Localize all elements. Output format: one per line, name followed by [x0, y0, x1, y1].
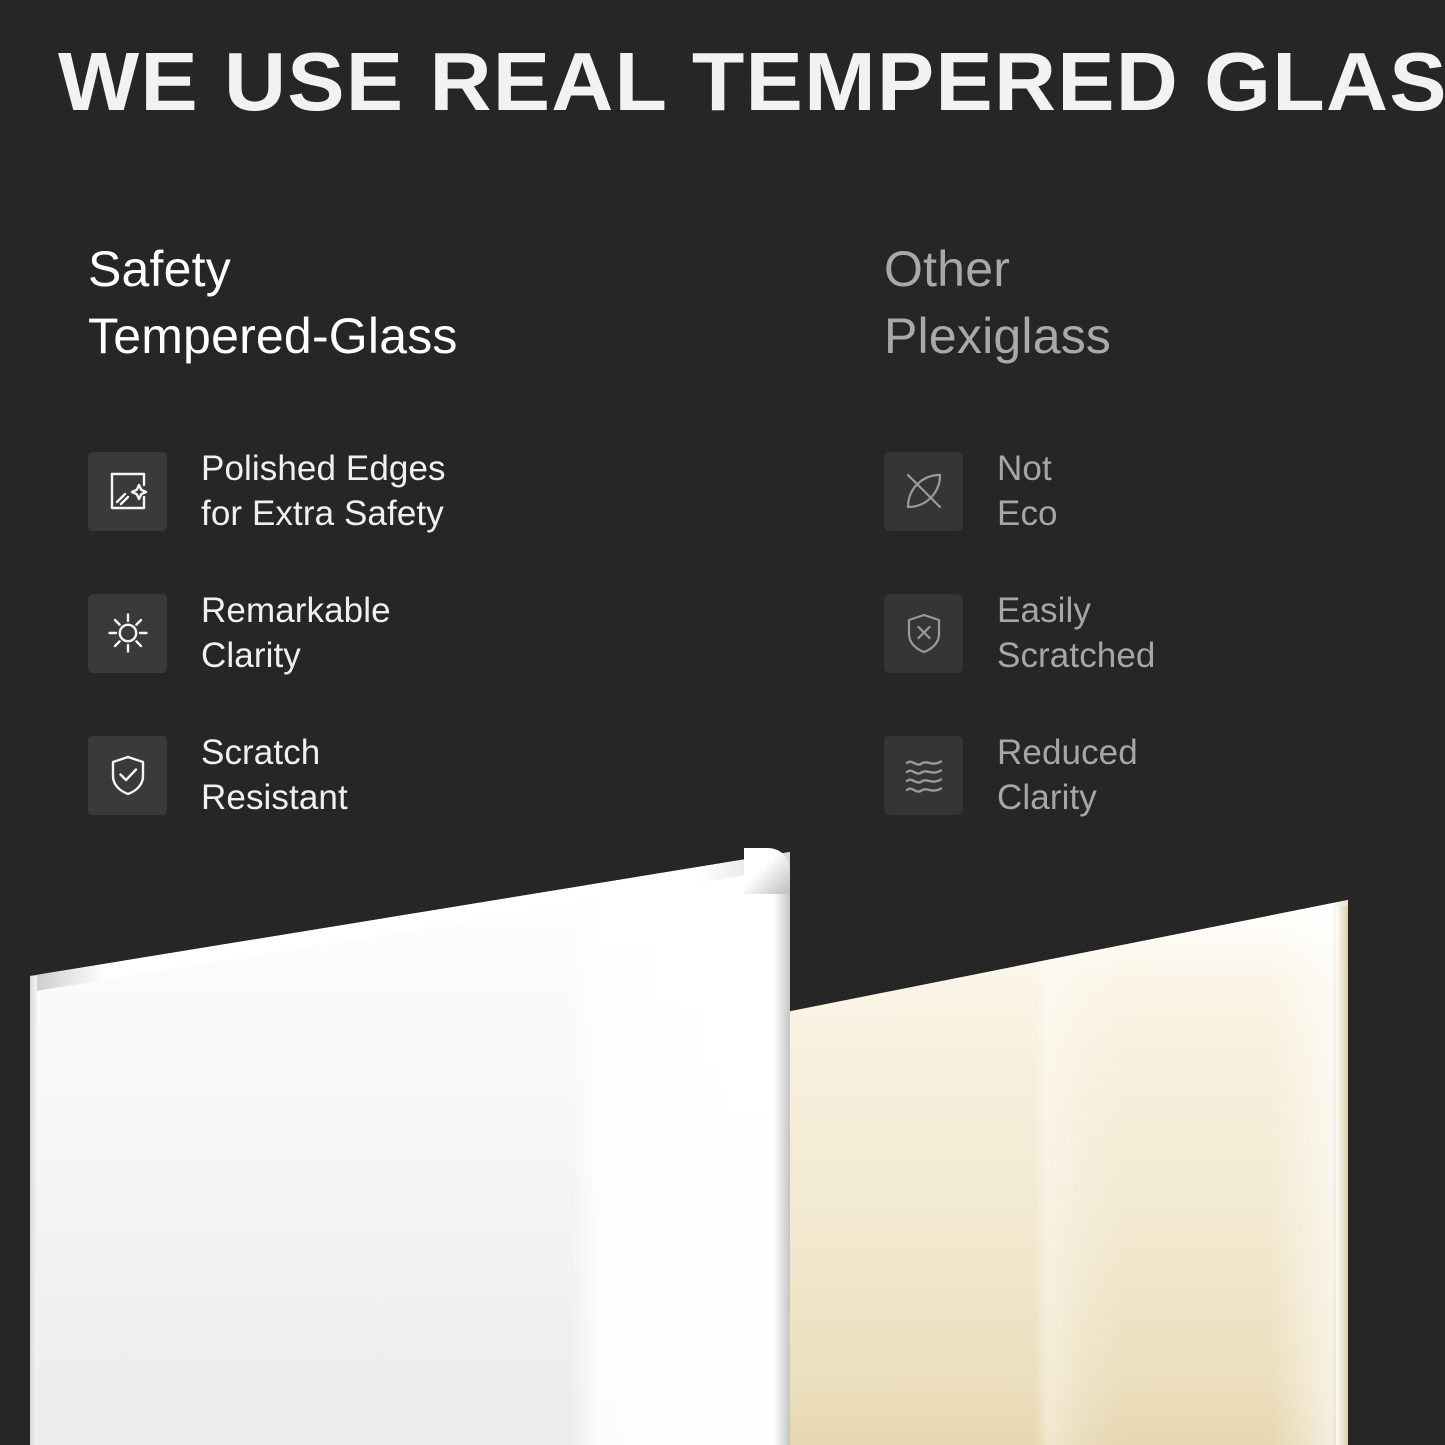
plexiglass-panel-right-edge: [1336, 906, 1348, 1445]
feature-list-tempered-glass: Polished Edges for Extra Safety Remarkab…: [88, 441, 788, 825]
feature-label: Easily Scratched: [997, 588, 1156, 679]
feature-label: Reduced Clarity: [997, 730, 1138, 821]
column-plexiglass: Other Plexiglass Not Eco: [884, 236, 1404, 369]
product-comparison-infographic: WE USE REAL TEMPERED GLASS Safety Temper…: [0, 0, 1445, 1445]
tempered-glass-panel-rounded-corner: [744, 848, 790, 894]
plexiglass-panel-sheen: [786, 900, 1348, 1445]
feature-row: Remarkable Clarity: [88, 583, 788, 683]
feature-list-plexiglass: Not Eco Easily Scratched: [884, 441, 1404, 825]
shield-check-icon: [88, 736, 167, 815]
feature-label: Scratch Resistant: [201, 730, 348, 821]
page-title: WE USE REAL TEMPERED GLASS: [58, 40, 1445, 123]
wavy-lines-icon: [884, 736, 963, 815]
column-heading-plexiglass: Other Plexiglass: [884, 236, 1404, 369]
feature-row: Not Eco: [884, 441, 1404, 541]
crossed-leaf-icon: [884, 452, 963, 531]
feature-row: Polished Edges for Extra Safety: [88, 441, 788, 541]
polished-glass-pane-icon: [88, 452, 167, 531]
feature-row: Scratch Resistant: [88, 725, 788, 825]
feature-row: Reduced Clarity: [884, 725, 1404, 825]
glass-panels-illustration: [0, 830, 1445, 1445]
column-tempered-glass: Safety Tempered-Glass Polished Edges for…: [88, 236, 788, 369]
tempered-glass-panel-right-edge: [774, 868, 790, 1445]
feature-row: Easily Scratched: [884, 583, 1404, 683]
column-heading-tempered-glass: Safety Tempered-Glass: [88, 236, 788, 369]
feature-label: Not Eco: [997, 446, 1058, 537]
feature-label: Remarkable Clarity: [201, 588, 391, 679]
feature-label: Polished Edges for Extra Safety: [201, 446, 446, 537]
tempered-glass-panel-sheen: [30, 852, 790, 1445]
sun-clarity-icon: [88, 594, 167, 673]
tempered-glass-panel-left-edge: [30, 976, 37, 1445]
shield-x-icon: [884, 594, 963, 673]
